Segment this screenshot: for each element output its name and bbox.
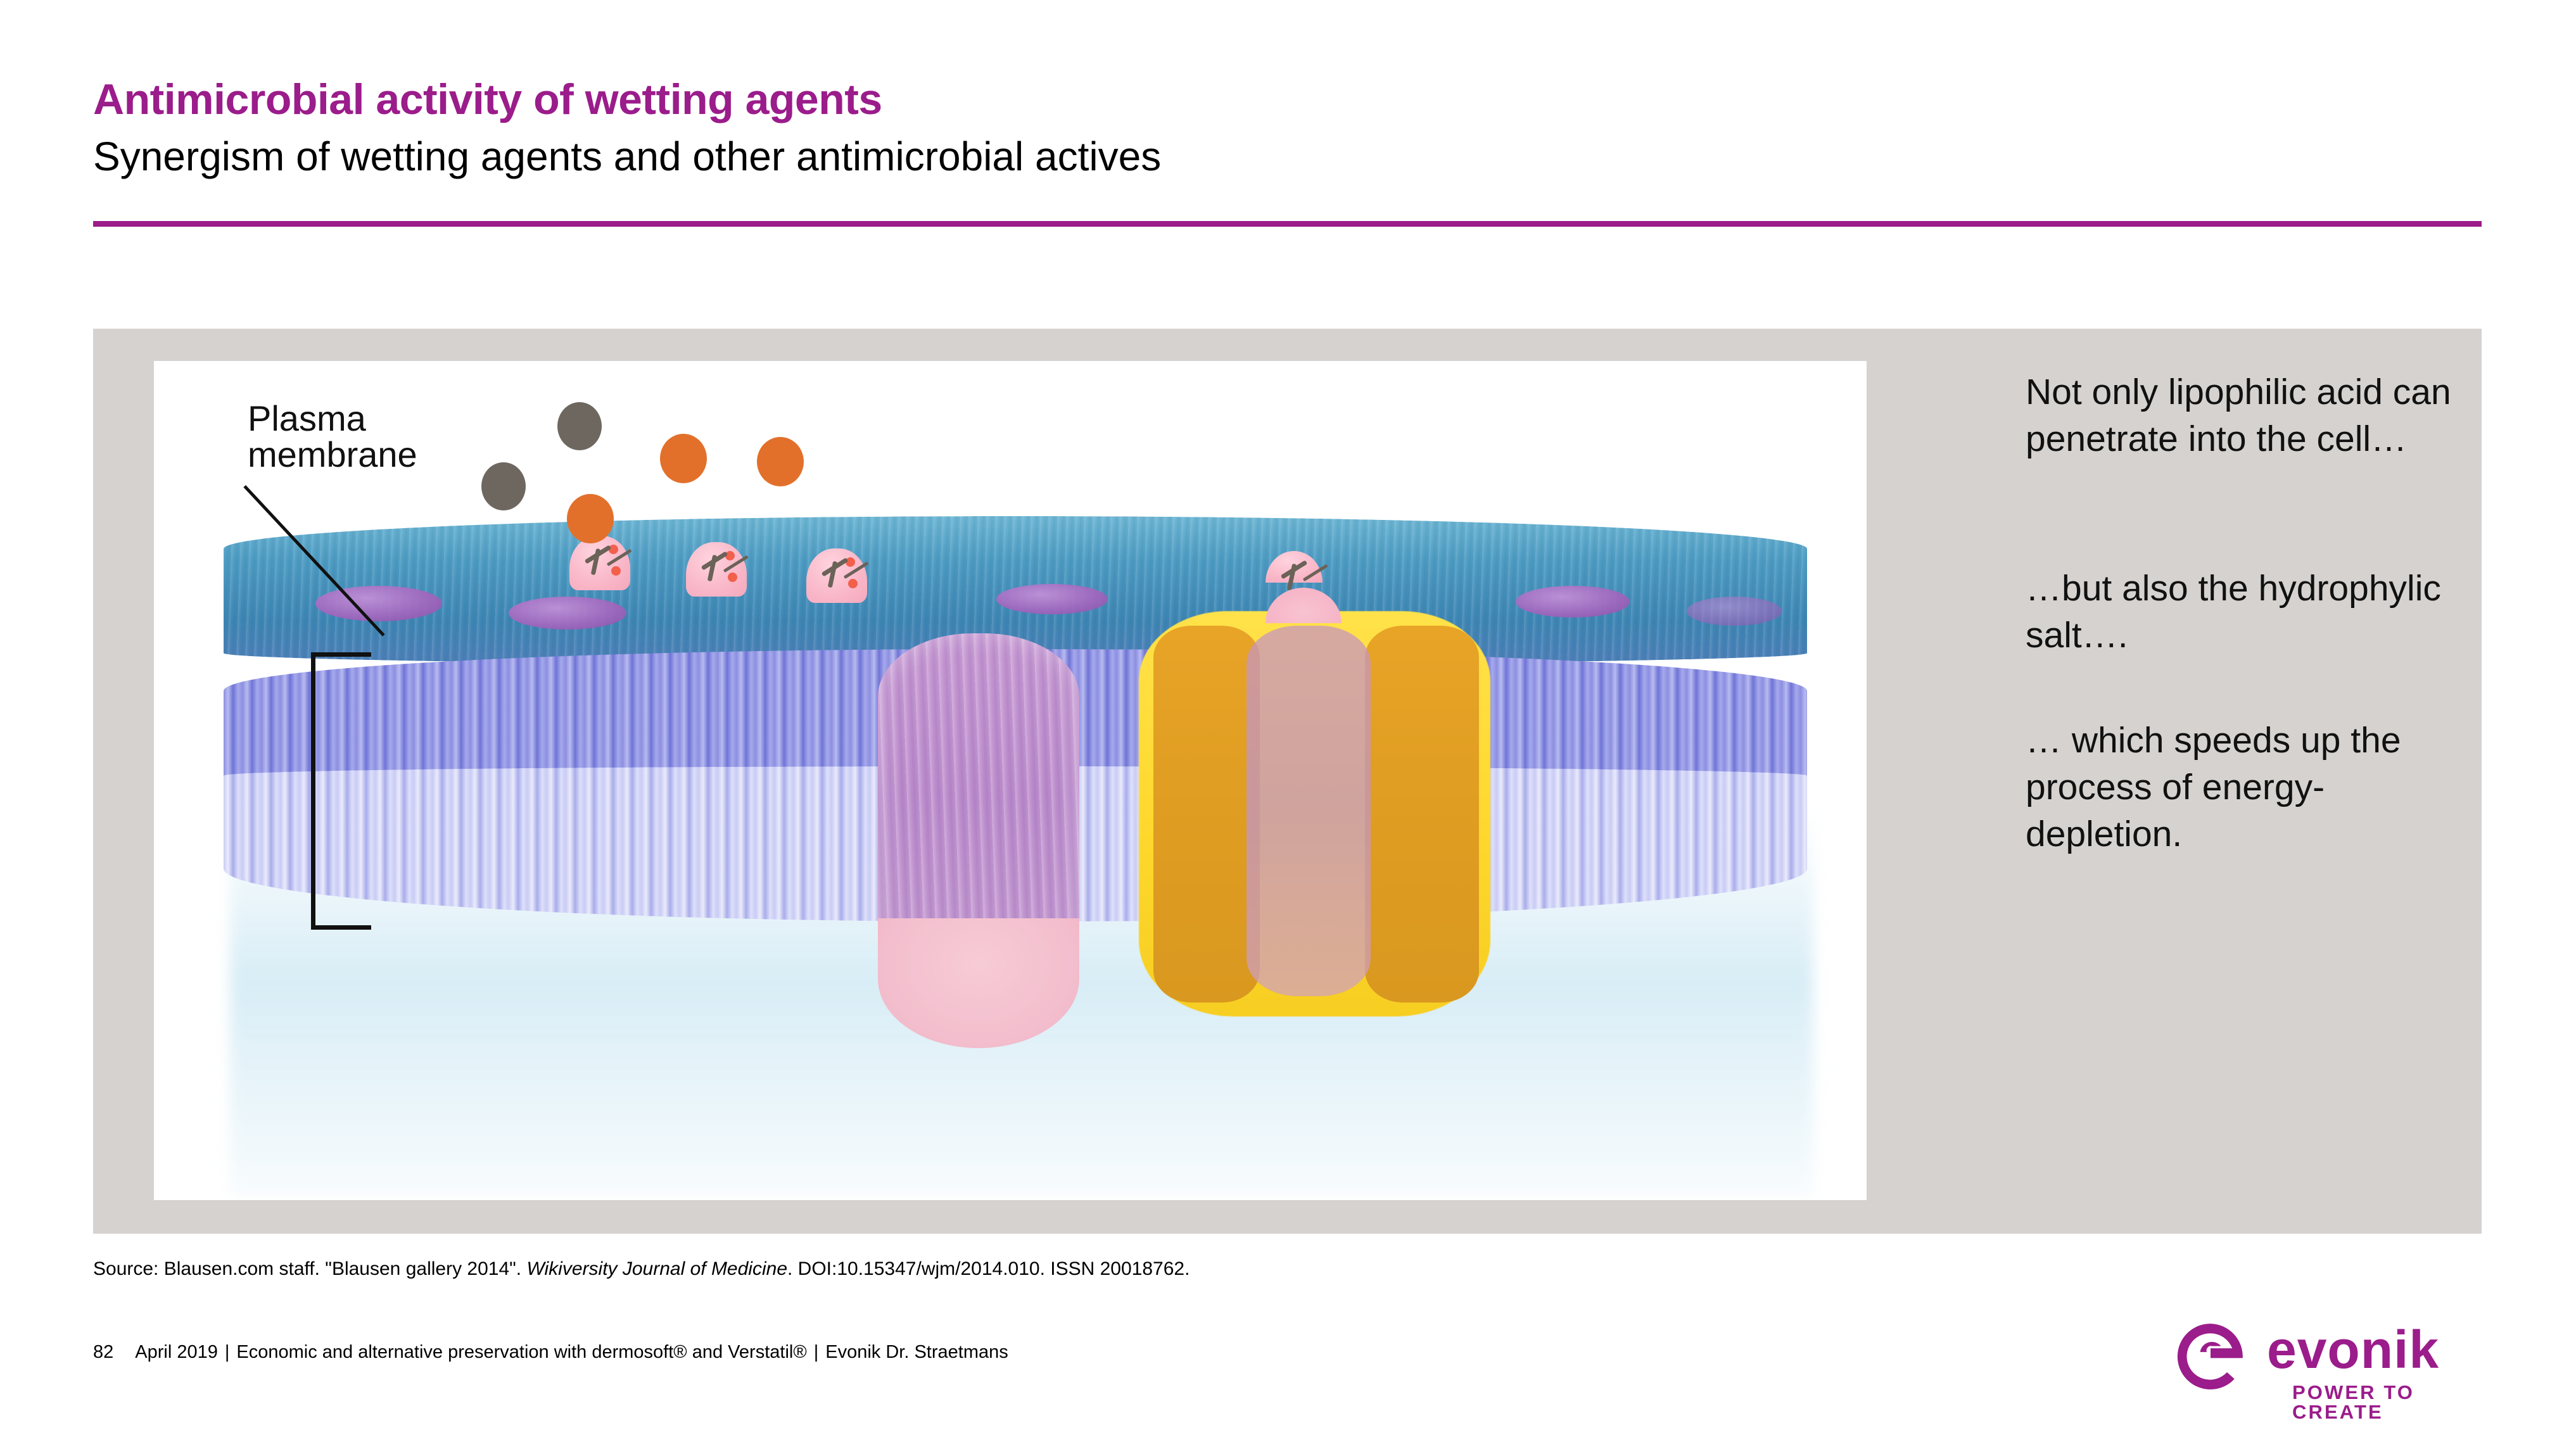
orange-particle-3 bbox=[567, 494, 614, 543]
membrane-thickness-bracket bbox=[311, 652, 371, 930]
embedded-patch bbox=[1687, 597, 1782, 626]
page-title: Antimicrobial activity of wetting agents bbox=[93, 75, 882, 124]
footer-separator-2: | bbox=[807, 1342, 826, 1362]
plasma-membrane-label: Plasma membrane bbox=[248, 400, 417, 472]
membrane-figure: Plasma membrane bbox=[154, 361, 1867, 1200]
footer-business-unit: Evonik Dr. Straetmans bbox=[825, 1342, 1008, 1362]
embedded-patch bbox=[509, 597, 626, 630]
orange-particle-1 bbox=[660, 434, 707, 483]
molecule-atom bbox=[609, 545, 618, 554]
molecule-atom bbox=[611, 566, 621, 576]
embedded-patch bbox=[1516, 586, 1630, 617]
slide-footer: 82April 2019|Economic and alternative pr… bbox=[93, 1342, 1008, 1363]
surface-molecule bbox=[569, 536, 630, 590]
page-number: 82 bbox=[93, 1342, 113, 1362]
embedded-patch bbox=[996, 584, 1108, 614]
source-suffix: . DOI:10.15347/wjm/2014.010. ISSN 200187… bbox=[787, 1258, 1190, 1279]
molecule-atom bbox=[846, 557, 855, 567]
evonik-wordmark: evonik bbox=[2267, 1323, 2439, 1376]
page-subtitle: Synergism of wetting agents and other an… bbox=[93, 133, 1161, 180]
explanation-paragraph-3: … which speeds up the process of energy-… bbox=[2026, 717, 2469, 857]
source-journal: Wikiversity Journal of Medicine bbox=[526, 1258, 787, 1279]
title-divider bbox=[93, 221, 2482, 227]
explanation-column: Not only lipophilic acid can penetrate i… bbox=[1960, 329, 2482, 1234]
footer-separator-1: | bbox=[218, 1342, 237, 1362]
surface-molecule bbox=[806, 548, 867, 603]
gray-particle-1 bbox=[557, 402, 602, 450]
molecule-atom bbox=[725, 551, 735, 560]
gray-particle-2 bbox=[481, 462, 526, 510]
footer-date: April 2019 bbox=[135, 1342, 218, 1362]
explanation-paragraph-2: …but also the hydrophylic salt…. bbox=[2026, 565, 2469, 659]
source-prefix: Source: Blausen.com staff. "Blausen gall… bbox=[93, 1258, 526, 1279]
surface-molecule bbox=[686, 542, 747, 597]
embedded-patch bbox=[315, 586, 442, 621]
transporter-lobe-right bbox=[1365, 626, 1479, 1003]
transporter-core bbox=[1247, 626, 1371, 996]
footer-description: Economic and alternative preservation wi… bbox=[236, 1342, 806, 1362]
orange-particle-2 bbox=[757, 437, 804, 486]
explanation-paragraph-1: Not only lipophilic acid can penetrate i… bbox=[2026, 369, 2469, 462]
evonik-logo: evonik POWER TO CREATE bbox=[2173, 1318, 2490, 1413]
molecule-atom bbox=[848, 579, 858, 588]
content-panel: Plasma membrane Not only lipophilic acid… bbox=[93, 329, 2482, 1234]
molecule-atom bbox=[728, 573, 737, 582]
transporter-lobe-left bbox=[1153, 626, 1260, 1003]
source-citation: Source: Blausen.com staff. "Blausen gall… bbox=[93, 1258, 1190, 1280]
evonik-tagline: POWER TO CREATE bbox=[2292, 1383, 2490, 1422]
evonik-emblem-icon bbox=[2173, 1319, 2248, 1394]
figure-canvas: Plasma membrane bbox=[154, 361, 1867, 1200]
